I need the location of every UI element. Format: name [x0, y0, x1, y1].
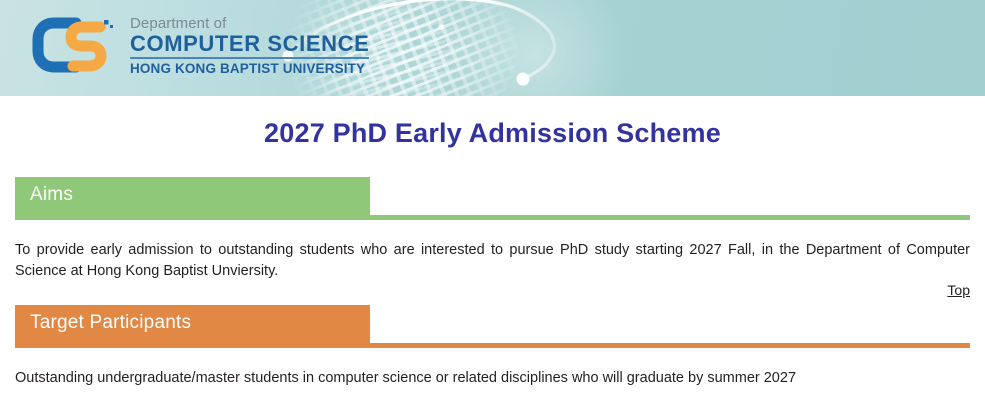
top-link-row-wrap: Top — [0, 282, 985, 300]
cs-logo-icon — [30, 14, 116, 76]
page-title: 2027 PhD Early Admission Scheme — [0, 118, 985, 149]
header-glow — [430, 0, 640, 96]
aims-banner: Aims — [15, 177, 970, 220]
site-header: Department of COMPUTER SCIENCE HONG KONG… — [0, 0, 985, 96]
logo-department-line: Department of — [130, 16, 369, 31]
target-participants-banner-label: Target Participants — [30, 312, 191, 334]
aims-banner-label: Aims — [30, 184, 73, 206]
target-participants-body-text: Outstanding undergraduate/master student… — [15, 368, 970, 389]
section-target-participants-body-wrap: Outstanding undergraduate/master student… — [0, 368, 985, 389]
back-to-top-link[interactable]: Top — [947, 282, 970, 298]
logo-name-line: COMPUTER SCIENCE — [130, 33, 369, 59]
cs-department-logo[interactable]: Department of COMPUTER SCIENCE HONG KONG… — [30, 14, 369, 76]
target-participants-banner: Target Participants — [15, 305, 970, 348]
section-aims-header: Aims — [0, 177, 985, 220]
logo-university-line: HONG KONG BAPTIST UNIVERSITY — [130, 62, 369, 76]
section-aims-body-wrap: To provide early admission to outstandin… — [0, 240, 985, 282]
section-target-participants-header: Target Participants — [0, 305, 985, 348]
top-link-row: Top — [15, 282, 970, 300]
logo-wordmark: Department of COMPUTER SCIENCE HONG KONG… — [130, 14, 369, 76]
aims-body-text: To provide early admission to outstandin… — [15, 240, 970, 282]
target-participants-banner-rule — [15, 343, 970, 348]
aims-banner-rule — [15, 215, 970, 220]
